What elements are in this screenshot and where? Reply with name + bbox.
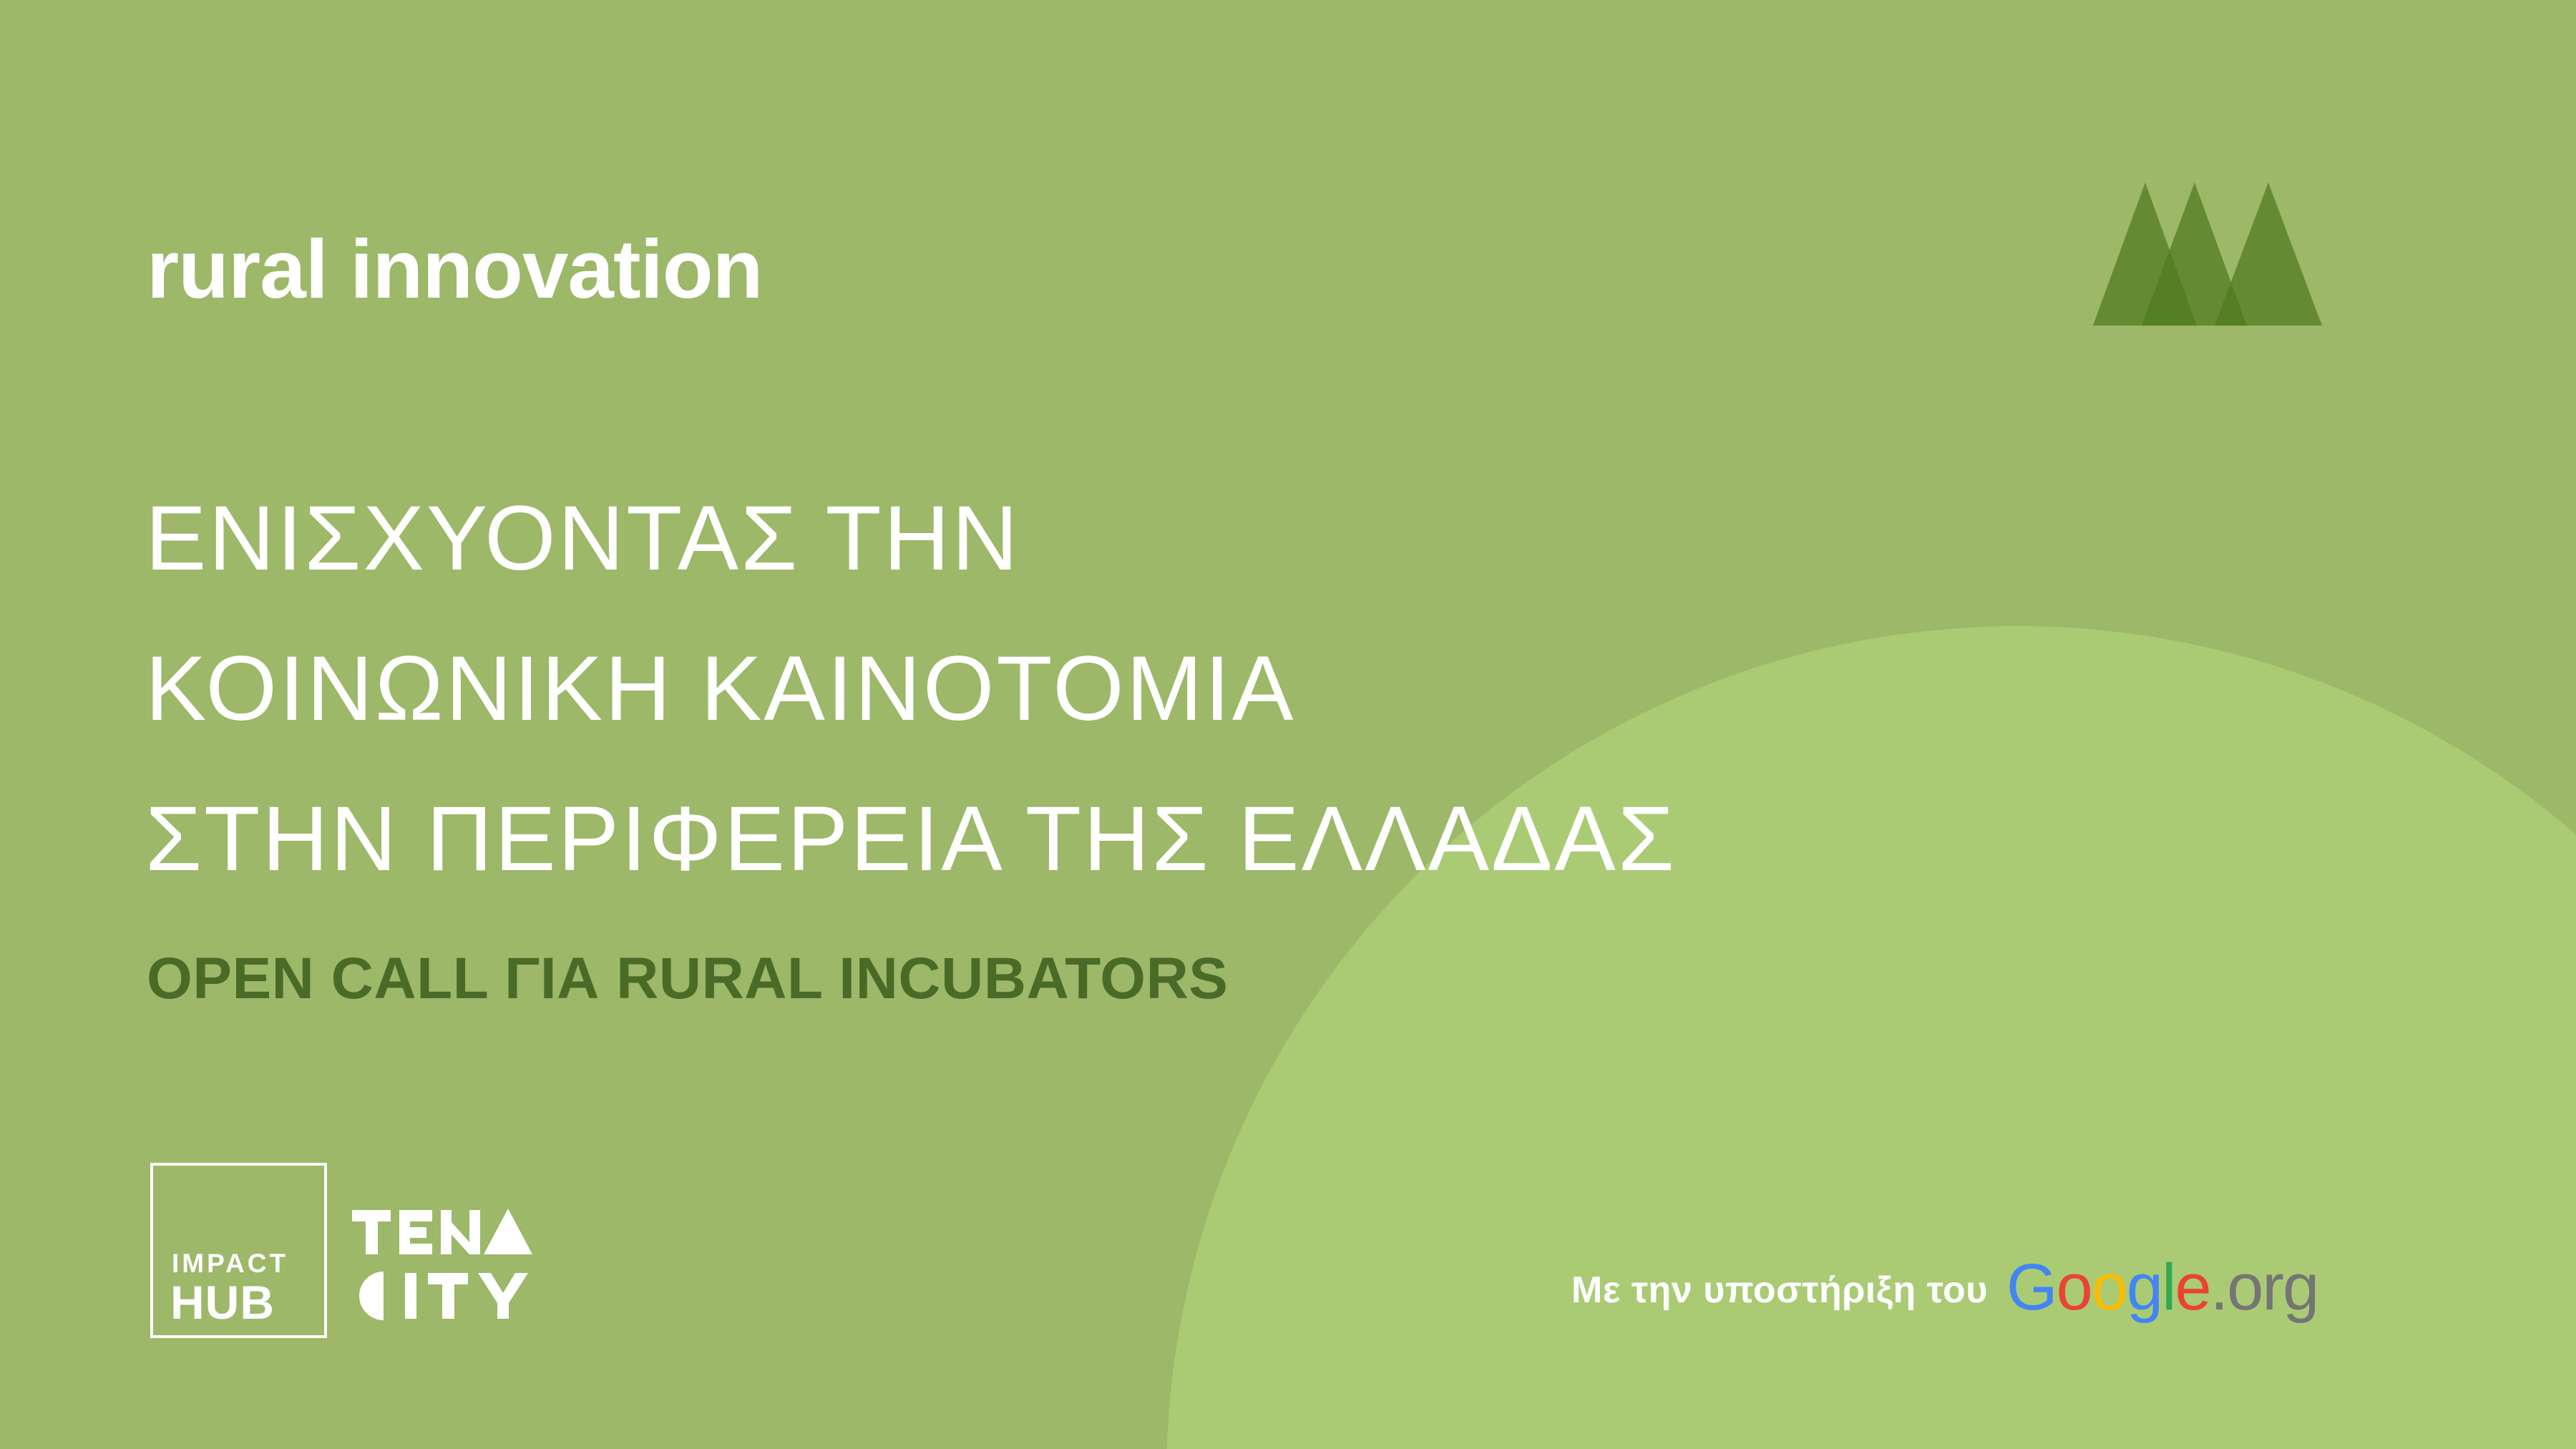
google-letter-g2: g <box>2127 1251 2162 1324</box>
headline-line-3: ΣΤΗΝ ΠΕΡΙΦΕΡΕΙΑ ΤΗΣ ΕΛΛΑΔΑΣ <box>145 764 1677 914</box>
google-letter-g1: G <box>2006 1251 2057 1324</box>
impact-hub-logo-line1: IMPACT <box>172 1250 288 1277</box>
impact-hub-logo-line2: HUB <box>170 1279 275 1326</box>
tenacity-logo <box>352 1207 538 1322</box>
three-mountains-icon <box>2061 182 2326 326</box>
page-title: ΕΝΙΣΧΥΟΝΤΑΣ ΤΗΝ ΚΟΙΝΩΝΙΚΗ ΚΑΙΝΟΤΟΜΙΑ ΣΤΗ… <box>145 464 1677 914</box>
google-org-logo: Google.org <box>2006 1254 2318 1320</box>
impact-hub-logo: IMPACT HUB <box>150 1163 327 1338</box>
support-credit: Με την υποστήριξη του Google.org <box>1571 1257 2318 1323</box>
poster-canvas: rural innovation ΕΝΙΣΧΥΟΝΤΑΣ ΤΗΝ ΚΟΙΝΩΝΙ… <box>0 0 2576 1449</box>
partner-logo-lockup: IMPACT HUB <box>150 1163 538 1338</box>
google-org-suffix: .org <box>2210 1251 2318 1324</box>
google-letter-e: e <box>2175 1251 2210 1324</box>
subtitle-open-call: OPEN CALL ΓΙΑ RURAL INCUBATORS <box>147 950 1229 1008</box>
support-credit-text: Με την υποστήριξη του <box>1571 1272 1988 1309</box>
google-letter-o1: o <box>2057 1251 2092 1324</box>
headline-line-1: ΕΝΙΣΧΥΟΝΤΑΣ ΤΗΝ <box>145 464 1677 614</box>
rural-innovation-wordmark: rural innovation <box>147 228 763 311</box>
google-letter-o2: o <box>2092 1251 2127 1324</box>
google-letter-l: l <box>2162 1251 2175 1324</box>
headline-line-2: ΚΟΙΝΩΝΙΚΗ ΚΑΙΝΟΤΟΜΙΑ <box>145 614 1677 764</box>
